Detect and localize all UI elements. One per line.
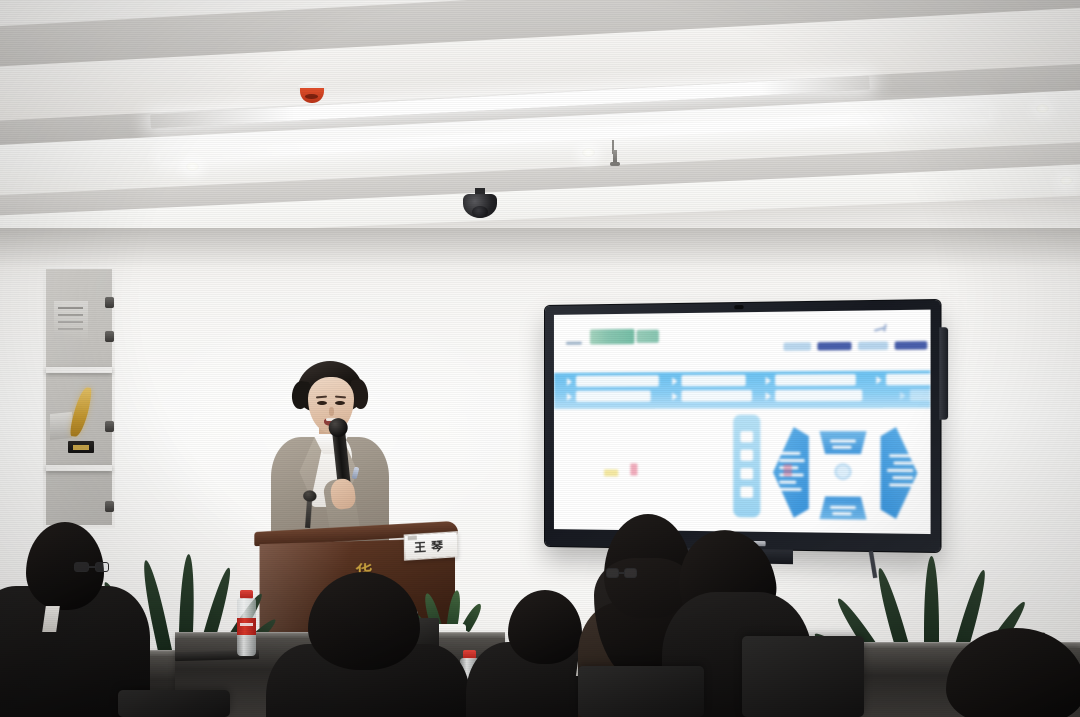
speaker-name-text: 王琴 (405, 538, 457, 555)
framed-certificate (54, 301, 88, 339)
slide-diagram (733, 414, 919, 534)
slide-menu-item (775, 390, 862, 402)
slide-menu-band (554, 370, 931, 409)
slide-menu-item (775, 374, 856, 386)
chair-back (578, 666, 704, 717)
slide-menu-item (681, 390, 752, 402)
ceiling-downlight (1060, 176, 1073, 185)
display-cabinet (43, 266, 115, 528)
slide-header (554, 310, 931, 373)
slide-logo-dash-icon (566, 342, 582, 345)
speaker-name-card: 王琴 (404, 531, 459, 561)
display-camera-icon (734, 305, 743, 309)
slide-highlight-red (630, 463, 637, 475)
attendee-center (272, 572, 462, 717)
slide-menu-item (681, 375, 745, 387)
eyeglasses-icon (74, 562, 116, 572)
chair-back (742, 636, 864, 717)
slide-nav-chip[interactable] (858, 341, 888, 350)
slide-highlight-red (783, 464, 791, 476)
water-bottle[interactable] (237, 590, 256, 656)
smoke-detector-icon (297, 82, 327, 105)
sprinkler-head-icon (613, 150, 617, 165)
slide-menu-item (910, 389, 931, 401)
attendee-front-left (0, 522, 148, 717)
slide-check-icon (874, 325, 891, 334)
display-screen[interactable] (554, 310, 931, 534)
slide-menu-item (576, 375, 659, 387)
slide-menu-item (886, 373, 931, 385)
slide-nav-chip[interactable] (817, 342, 851, 351)
slide-menu-item (576, 391, 651, 402)
diagram-chevron-right (881, 427, 918, 519)
presentation-slide (554, 310, 931, 534)
display-side-panel (939, 327, 948, 419)
slide-highlight-yellow (604, 469, 618, 476)
slide-nav-chip[interactable] (783, 342, 811, 351)
conference-room-photo: 华 永益行 王琴 (0, 0, 1080, 717)
attendee-far-right (930, 628, 1080, 717)
gold-trophy-icon (68, 387, 94, 453)
ceiling-downlight (582, 148, 595, 157)
slide-title-text-2 (636, 330, 658, 343)
wall-shadow (0, 228, 1080, 268)
presenter (255, 361, 400, 546)
chair-back (118, 690, 230, 717)
slide-title-text (590, 329, 634, 345)
ceiling-downlight (186, 162, 199, 171)
diagram-chevron-top (820, 431, 867, 454)
ceiling-downlight (1036, 104, 1049, 113)
diagram-step-panel (733, 415, 760, 518)
eyeglasses-icon (606, 568, 640, 578)
ceiling-dome-camera-icon (463, 188, 497, 224)
slide-nav-chip[interactable] (895, 341, 928, 350)
diagram-hub-node (834, 463, 851, 480)
